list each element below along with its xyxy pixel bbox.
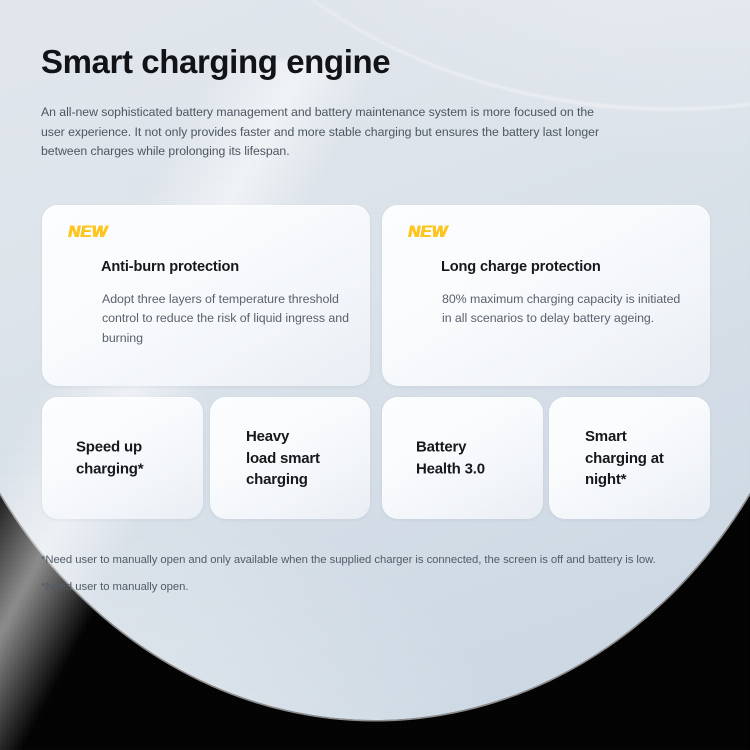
intro-paragraph: An all-new sophisticated battery managem… (41, 103, 611, 162)
capability-card-smart-charging-at-night[interactable]: Smart charging at night* (549, 397, 710, 519)
new-badge: NEW (408, 223, 448, 242)
capability-card-label: Smart charging at night* (585, 426, 698, 491)
footnote-group: *Need user to manually open and only ava… (41, 552, 713, 596)
capability-card-label: Heavy load smart charging (246, 426, 358, 491)
capability-card-label: Speed up charging* (76, 437, 191, 480)
feature-card-description: Adopt three layers of temperature thresh… (102, 290, 350, 348)
new-badge: NEW (68, 223, 108, 242)
footnote-1: *Need user to manually open and only ava… (41, 552, 713, 570)
page-title: Smart charging engine (41, 43, 390, 81)
footnote-2: *Need user to manually open. (41, 579, 713, 597)
feature-card-title: Anti-burn protection (101, 259, 239, 275)
feature-card-title: Long charge protection (441, 259, 601, 275)
capability-card-battery-health[interactable]: Battery Health 3.0 (382, 397, 543, 519)
feature-card-description: 80% maximum charging capacity is initiat… (442, 290, 690, 329)
promo-slide: Smart charging engine An all-new sophist… (0, 0, 750, 750)
feature-card-long-charge[interactable]: NEW Long charge protection 80% maximum c… (382, 205, 710, 386)
capability-card-heavy-load-smart-charging[interactable]: Heavy load smart charging (210, 397, 370, 519)
slide-content: Smart charging engine An all-new sophist… (0, 0, 750, 750)
capability-card-speed-up-charging[interactable]: Speed up charging* (42, 397, 203, 519)
feature-card-anti-burn[interactable]: NEW Anti-burn protection Adopt three lay… (42, 205, 370, 386)
capability-card-label: Battery Health 3.0 (416, 437, 531, 480)
